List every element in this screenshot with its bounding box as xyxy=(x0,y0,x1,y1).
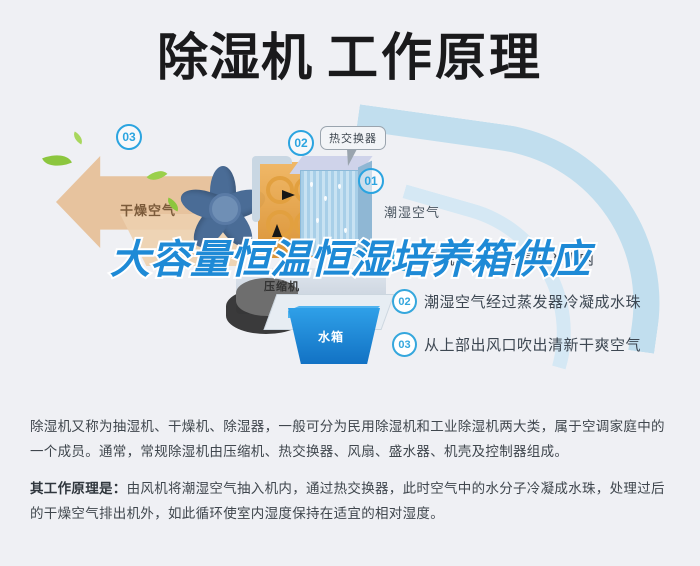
diagram-badge-01: 01 xyxy=(358,168,384,194)
compressor-label: 压缩机 xyxy=(264,278,300,294)
description-paragraph-1: 除湿机又称为抽湿机、干燥机、除湿器，一般可分为民用除湿机和工业除湿机两大类，属于… xyxy=(30,414,676,464)
legend-badge-01: 01 xyxy=(392,246,417,271)
pipe-icon xyxy=(252,156,260,222)
pipe-icon xyxy=(252,156,292,164)
list-item: 01 风机将潮湿空气抽入机内 xyxy=(392,246,692,271)
diagram-badge-02: 02 xyxy=(288,130,314,156)
legend-text-02: 潮湿空气经过蒸发器冷凝成水珠 xyxy=(424,291,641,312)
flow-arrow-up-icon xyxy=(272,224,282,237)
title-part-1: 除湿机 xyxy=(157,32,313,83)
legend-badge-02: 02 xyxy=(392,289,417,314)
legend-badge-03: 03 xyxy=(392,332,417,357)
legend-text-03: 从上部出风口吹出清新干爽空气 xyxy=(424,334,641,355)
list-item: 02 潮湿空气经过蒸发器冷凝成水珠 xyxy=(392,289,692,314)
list-item: 03 从上部出风口吹出清新干爽空气 xyxy=(392,332,692,357)
humid-air-label: 潮湿空气 xyxy=(384,202,440,221)
legend-text-01: 风机将潮湿空气抽入机内 xyxy=(424,248,595,269)
process-legend: 01 风机将潮湿空气抽入机内 02 潮湿空气经过蒸发器冷凝成水珠 03 从上部出… xyxy=(392,246,692,375)
description-paragraph-2: 其工作原理是：由风机将潮湿空气抽入机内，通过热交换器，此时空气中的水分子冷凝成水… xyxy=(30,476,676,526)
water-tank-label: 水箱 xyxy=(318,328,344,345)
leaf-icon xyxy=(42,149,72,173)
infographic-page: 除湿机工作原理 干燥空气 xyxy=(0,0,700,566)
paragraph-2-lead: 其工作原理是： xyxy=(30,481,127,496)
page-title: 除湿机工作原理 xyxy=(0,32,700,83)
diagram-badge-03: 03 xyxy=(116,124,142,150)
leaf-icon xyxy=(71,132,85,145)
heat-exchanger-callout: 热交换器 xyxy=(320,126,386,150)
title-part-2: 工作原理 xyxy=(327,32,543,83)
flow-arrow-right-icon xyxy=(282,190,295,200)
